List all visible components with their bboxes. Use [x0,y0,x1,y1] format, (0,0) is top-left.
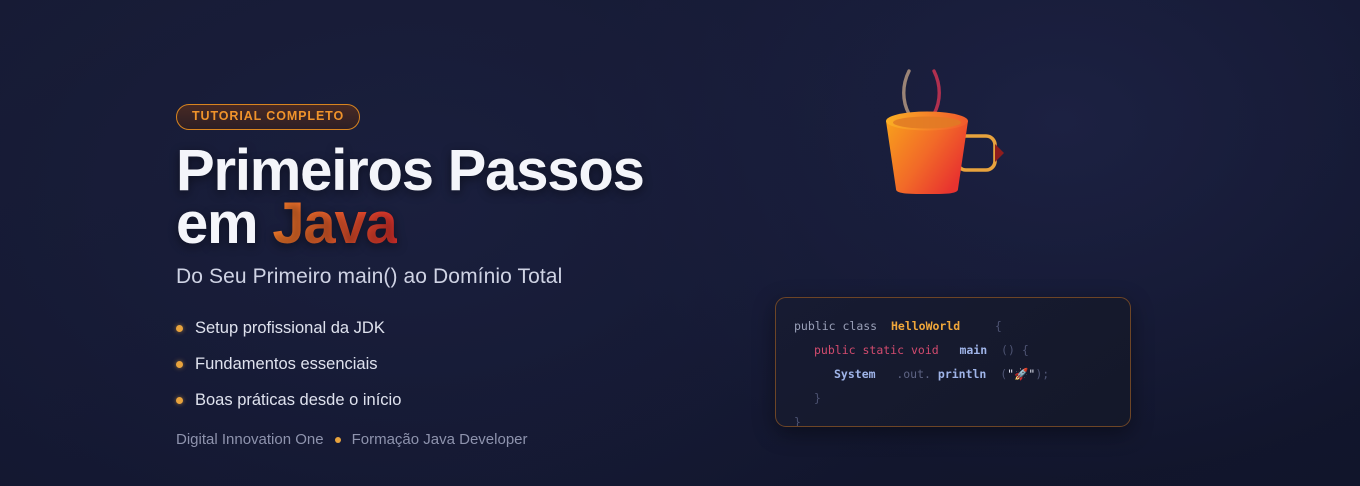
code-token [931,367,938,381]
title-line-2: em Java [176,197,696,251]
list-item: Fundamentos essenciais [176,355,696,374]
code-snippet-panel: public class HelloWorld {public static v… [775,297,1131,427]
code-line: } [794,410,1112,427]
feature-list: Setup profissional da JDK Fundamentos es… [176,319,696,410]
feature-label: Fundamentos essenciais [195,355,378,374]
code-token: } [814,391,821,405]
bullet-dot-icon [176,361,183,368]
code-token: void [911,343,939,357]
code-line: } [794,386,1112,410]
cup-coffee-surface-icon [893,117,961,129]
title-accent-java: Java [272,191,396,256]
list-item: Boas práticas desde o início [176,391,696,410]
code-token: () [1001,343,1015,357]
page-title: Primeiros Passos em Java [176,144,696,252]
java-cup-illustration [862,58,1032,203]
java-cup-svg [862,58,1032,203]
brand-label: Digital Innovation One [176,431,324,448]
code-token: public [794,319,836,333]
code-token [877,319,891,333]
code-token: ); [1035,367,1049,381]
code-token [904,343,911,357]
code-line: public static void main () { [794,338,1112,362]
code-line: System .out. println ("🚀"); [794,362,1112,386]
code-token: println [938,367,986,381]
steam-left-icon [904,71,909,114]
code-token: "🚀" [1007,367,1035,381]
code-token: HelloWorld [891,319,960,333]
code-token: class [842,319,877,333]
cup-body-icon [886,121,968,194]
separator-dot-icon [335,437,341,443]
title-line-2-prefix: em [176,191,272,256]
list-item: Setup profissional da JDK [176,319,696,338]
bullet-dot-icon [176,325,183,332]
code-token: .out. [896,367,931,381]
code-token: { [1022,343,1029,357]
steam-right-icon [934,71,939,114]
code-token: { [995,319,1002,333]
bullet-dot-icon [176,397,183,404]
footer-meta: Digital Innovation One Formação Java Dev… [176,431,696,448]
code-token [986,367,1000,381]
code-token: static [862,343,904,357]
feature-label: Setup profissional da JDK [195,319,385,338]
code-token: } [794,415,801,427]
code-token: main [959,343,987,357]
code-token [960,319,995,333]
cup-handle-tip-icon [995,144,1004,162]
code-token [987,343,1001,357]
code-token: public [814,343,856,357]
course-label: Formação Java Developer [352,431,528,448]
code-token [876,367,897,381]
code-token [939,343,960,357]
code-token [1015,343,1022,357]
page-subtitle: Do Seu Primeiro main() ao Domínio Total [176,265,696,289]
code-body: public class HelloWorld {public static v… [794,314,1112,427]
feature-label: Boas práticas desde o início [195,391,401,410]
code-token: System [834,367,876,381]
hero-text-column: TUTORIAL COMPLETO Primeiros Passos em Ja… [176,104,696,448]
slide-canvas: TUTORIAL COMPLETO Primeiros Passos em Ja… [0,0,1360,486]
tutorial-badge: TUTORIAL COMPLETO [176,104,360,130]
code-line: public class HelloWorld { [794,314,1112,338]
